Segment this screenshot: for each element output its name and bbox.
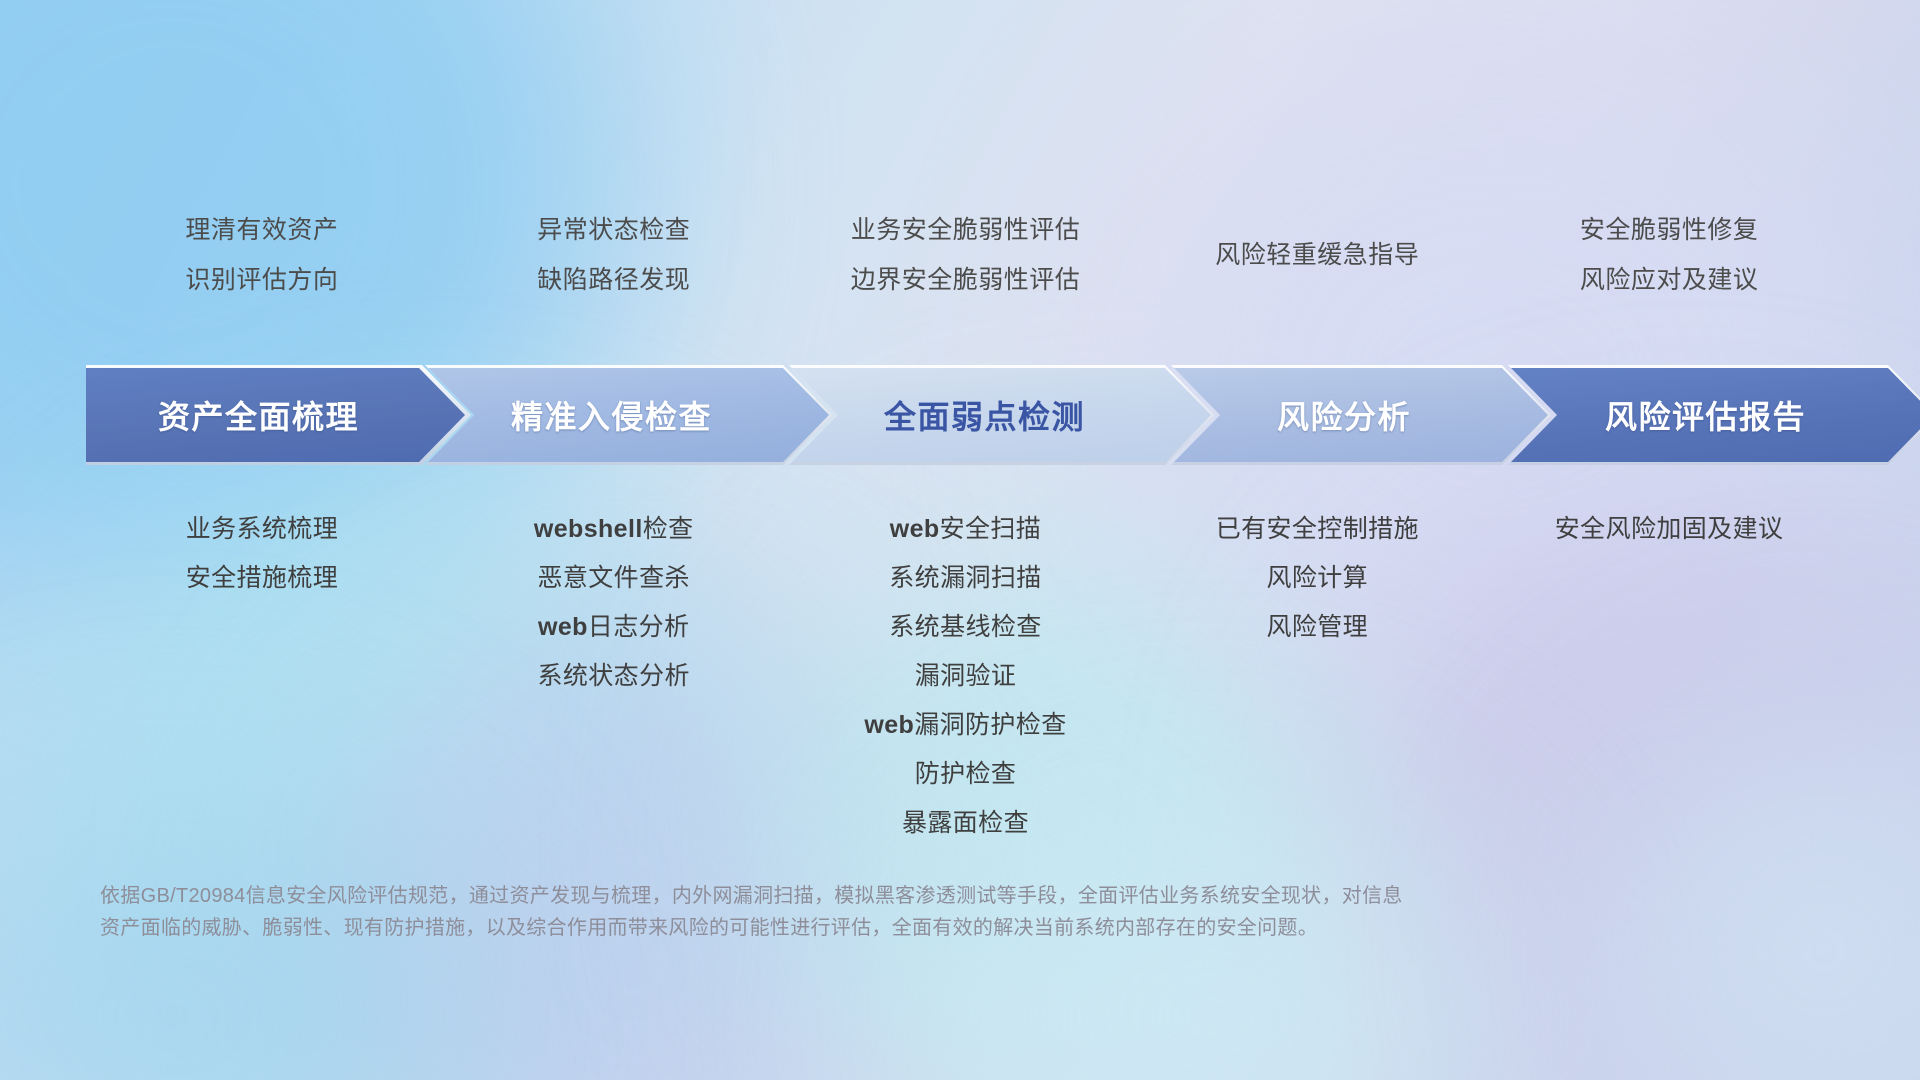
stage-outcome-label: 边界安全脆弱性评估: [790, 268, 1142, 293]
stage-task-item: web安全扫描: [790, 517, 1142, 542]
stage-arrow-title: 精准入侵检查: [428, 392, 829, 438]
stage-arrow-title: 全面弱点检测: [792, 392, 1211, 438]
stage-task-item: webshell检查: [438, 517, 790, 542]
stage-task-item: 风险计算: [1141, 566, 1493, 591]
stage-outcome-label: 风险应对及建议: [1493, 268, 1845, 293]
stage-outcome-label: 业务安全脆弱性评估: [790, 218, 1142, 243]
stage-outcome-label: 异常状态检查: [438, 218, 790, 243]
stage-arrow-banner: 资产全面梳理精准入侵检查全面弱点检测风险分析风险评估报告: [86, 368, 1852, 462]
task-latin-prefix: web: [538, 613, 588, 641]
task-label: 检查: [643, 515, 694, 543]
stage-task-item: 已有安全控制措施: [1141, 517, 1493, 542]
stage-outcome-group-asset-inventory: 理清有效资产识别评估方向: [86, 218, 438, 293]
task-latin-prefix: webshell: [534, 515, 643, 543]
stage-arrow-title: 资产全面梳理: [86, 392, 465, 438]
stage-task-item: 系统基线检查: [790, 615, 1142, 640]
stage-arrow-assessment-report[interactable]: 风险评估报告: [1511, 368, 1920, 462]
stage-task-list-asset-inventory: 业务系统梳理安全措施梳理: [86, 517, 438, 591]
task-label: 日志分析: [588, 613, 690, 641]
stage-arrow-title: 风险评估报告: [1511, 392, 1920, 438]
stage-tasks-row: 业务系统梳理安全措施梳理webshell检查恶意文件查杀web日志分析系统状态分…: [86, 517, 1845, 836]
stage-task-item: 暴露面检查: [790, 811, 1142, 836]
stage-outcome-label: 风险轻重缓急指导: [1141, 243, 1493, 268]
stage-arrow-title: 风险分析: [1174, 392, 1548, 438]
task-latin-prefix: web: [864, 711, 914, 739]
stage-task-item: 风险管理: [1141, 615, 1493, 640]
stage-task-list-intrusion-check: webshell检查恶意文件查杀web日志分析系统状态分析: [438, 517, 790, 689]
stage-outcomes-row: 理清有效资产识别评估方向异常状态检查缺陷路径发现业务安全脆弱性评估边界安全脆弱性…: [86, 218, 1845, 293]
stage-task-item: 防护检查: [790, 762, 1142, 787]
task-label: 漏洞防护检查: [914, 711, 1066, 739]
footer-description: 依据GB/T20984信息安全风险评估规范，通过资产发现与梳理，内外网漏洞扫描，…: [100, 880, 1660, 944]
footer-line-2: 资产面临的威胁、脆弱性、现有防护措施，以及综合作用而带来风险的可能性进行评估，全…: [100, 912, 1660, 944]
stage-task-item: 漏洞验证: [790, 664, 1142, 689]
stage-arrow-risk-analysis[interactable]: 风险分析: [1174, 368, 1548, 462]
stage-task-list-weakness-detection: web安全扫描系统漏洞扫描系统基线检查漏洞验证web漏洞防护检查防护检查暴露面检…: [790, 517, 1142, 836]
stage-outcome-label: 识别评估方向: [86, 268, 438, 293]
footer-line-1: 依据GB/T20984信息安全风险评估规范，通过资产发现与梳理，内外网漏洞扫描，…: [100, 880, 1660, 912]
task-label: 安全扫描: [940, 515, 1042, 543]
stage-task-item: web日志分析: [438, 615, 790, 640]
stage-outcome-group-weakness-detection: 业务安全脆弱性评估边界安全脆弱性评估: [790, 218, 1142, 293]
stage-outcome-label: 安全脆弱性修复: [1493, 218, 1845, 243]
task-latin-prefix: web: [890, 515, 940, 543]
stage-arrow-weakness-detection[interactable]: 全面弱点检测: [792, 368, 1211, 462]
stage-task-item: 安全措施梳理: [86, 566, 438, 591]
stage-task-item: web漏洞防护检查: [790, 713, 1142, 738]
stage-outcome-label: 缺陷路径发现: [438, 268, 790, 293]
stage-task-item: 系统漏洞扫描: [790, 566, 1142, 591]
stage-outcome-group-risk-analysis: 风险轻重缓急指导: [1141, 218, 1493, 293]
stage-outcome-group-assessment-report: 安全脆弱性修复风险应对及建议: [1493, 218, 1845, 293]
stage-task-item: 系统状态分析: [438, 664, 790, 689]
stage-arrow-asset-inventory[interactable]: 资产全面梳理: [86, 368, 465, 462]
stage-task-list-risk-analysis: 已有安全控制措施风险计算风险管理: [1141, 517, 1493, 640]
stage-outcome-label: 理清有效资产: [86, 218, 438, 243]
stage-task-item: 恶意文件查杀: [438, 566, 790, 591]
stage-arrow-intrusion-check[interactable]: 精准入侵检查: [428, 368, 829, 462]
process-diagram: 理清有效资产识别评估方向异常状态检查缺陷路径发现业务安全脆弱性评估边界安全脆弱性…: [0, 0, 1920, 1080]
stage-task-item: 业务系统梳理: [86, 517, 438, 542]
stage-task-list-assessment-report: 安全风险加固及建议: [1493, 517, 1845, 542]
stage-task-item: 安全风险加固及建议: [1493, 517, 1845, 542]
stage-outcome-group-intrusion-check: 异常状态检查缺陷路径发现: [438, 218, 790, 293]
